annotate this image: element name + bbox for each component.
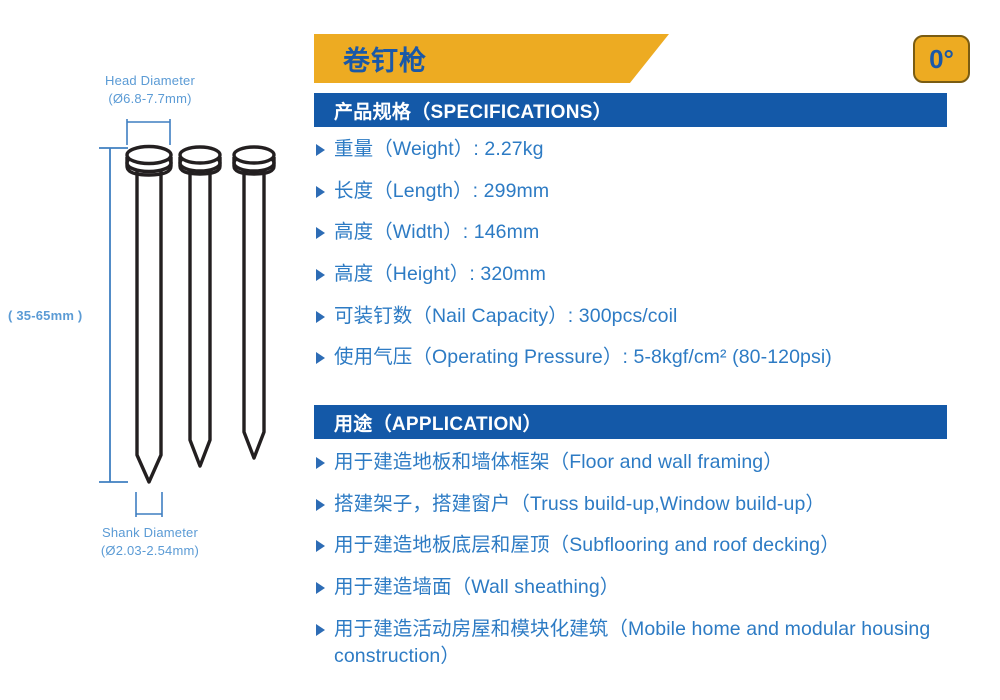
product-info-panel: 卷钉枪 0° 产品规格（SPECIFICATIONS） 重量（Weight）: … xyxy=(305,0,1000,700)
triangle-bullet-icon xyxy=(316,269,325,281)
nail-shape-3 xyxy=(234,147,274,458)
specifications-list: 重量（Weight）: 2.27kg 长度（Length）: 299mm 高度（… xyxy=(314,136,974,386)
application-header-label: 用途（APPLICATION） xyxy=(314,409,542,436)
application-text: 用于建造地板底层和屋顶（Subflooring and roof decking… xyxy=(334,532,840,560)
list-item: 高度（Height）: 320mm xyxy=(314,261,974,289)
application-text: 搭建架子，搭建窗户（Truss build-up,Window build-up… xyxy=(334,491,825,519)
triangle-bullet-icon xyxy=(316,540,325,552)
specifications-section-header: 产品规格（SPECIFICATIONS） xyxy=(314,93,947,127)
triangle-bullet-icon xyxy=(316,227,325,239)
list-item: 用于建造地板和墙体框架（Floor and wall framing） xyxy=(314,449,974,477)
shank-diameter-label: Shank Diameter (Ø2.03-2.54mm) xyxy=(0,524,300,559)
specification-text: 重量（Weight）: 2.27kg xyxy=(334,136,544,164)
application-text: 用于建造地板和墙体框架（Floor and wall framing） xyxy=(334,449,783,477)
list-item: 长度（Length）: 299mm xyxy=(314,178,974,206)
triangle-bullet-icon xyxy=(316,352,325,364)
shank-diameter-value: (Ø2.03-2.54mm) xyxy=(0,542,300,560)
list-item: 用于建造墙面（Wall sheathing） xyxy=(314,574,974,602)
nail-shape-1 xyxy=(127,147,171,483)
triangle-bullet-icon xyxy=(316,457,325,469)
nail-length-label: ( 35-65mm ) xyxy=(8,307,108,325)
application-text: 用于建造墙面（Wall sheathing） xyxy=(334,574,619,602)
specification-text: 使用气压（Operating Pressure）: 5-8kgf/cm² (80… xyxy=(334,344,832,372)
angle-badge-value: 0° xyxy=(929,46,954,72)
list-item: 使用气压（Operating Pressure）: 5-8kgf/cm² (80… xyxy=(314,344,974,372)
nail-diagram-panel: Head Diameter (Ø6.8-7.7mm) ( 35-65mm ) S… xyxy=(0,0,300,700)
application-list: 用于建造地板和墙体框架（Floor and wall framing） 搭建架子… xyxy=(314,449,974,685)
head-diameter-value: (Ø6.8-7.7mm) xyxy=(0,90,300,108)
shank-diameter-dimension-line xyxy=(136,492,162,517)
head-diameter-title: Head Diameter xyxy=(0,72,300,90)
application-text: 用于建造活动房屋和模块化建筑（Mobile home and modular h… xyxy=(334,616,974,671)
product-title-banner: 卷钉枪 xyxy=(314,34,669,83)
list-item: 用于建造地板底层和屋顶（Subflooring and roof decking… xyxy=(314,532,974,560)
nail-shape-2 xyxy=(180,147,220,466)
list-item: 用于建造活动房屋和模块化建筑（Mobile home and modular h… xyxy=(314,616,974,671)
specification-text: 高度（Width）: 146mm xyxy=(334,219,539,247)
specification-text: 长度（Length）: 299mm xyxy=(334,178,549,206)
triangle-bullet-icon xyxy=(316,624,325,636)
triangle-bullet-icon xyxy=(316,582,325,594)
application-section-header: 用途（APPLICATION） xyxy=(314,405,947,439)
head-diameter-dimension-line xyxy=(127,119,170,145)
triangle-bullet-icon xyxy=(316,311,325,323)
triangle-bullet-icon xyxy=(316,144,325,156)
specification-text: 高度（Height）: 320mm xyxy=(334,261,546,289)
specification-text: 可装钉数（Nail Capacity）: 300pcs/coil xyxy=(334,303,677,331)
list-item: 重量（Weight）: 2.27kg xyxy=(314,136,974,164)
list-item: 搭建架子，搭建窗户（Truss build-up,Window build-up… xyxy=(314,491,974,519)
triangle-bullet-icon xyxy=(316,186,325,198)
product-title: 卷钉枪 xyxy=(314,39,427,78)
triangle-bullet-icon xyxy=(316,499,325,511)
head-diameter-label: Head Diameter (Ø6.8-7.7mm) xyxy=(0,72,300,107)
specifications-header-label: 产品规格（SPECIFICATIONS） xyxy=(314,97,612,124)
shank-diameter-title: Shank Diameter xyxy=(0,524,300,542)
angle-badge: 0° xyxy=(913,35,970,83)
list-item: 可装钉数（Nail Capacity）: 300pcs/coil xyxy=(314,303,974,331)
list-item: 高度（Width）: 146mm xyxy=(314,219,974,247)
